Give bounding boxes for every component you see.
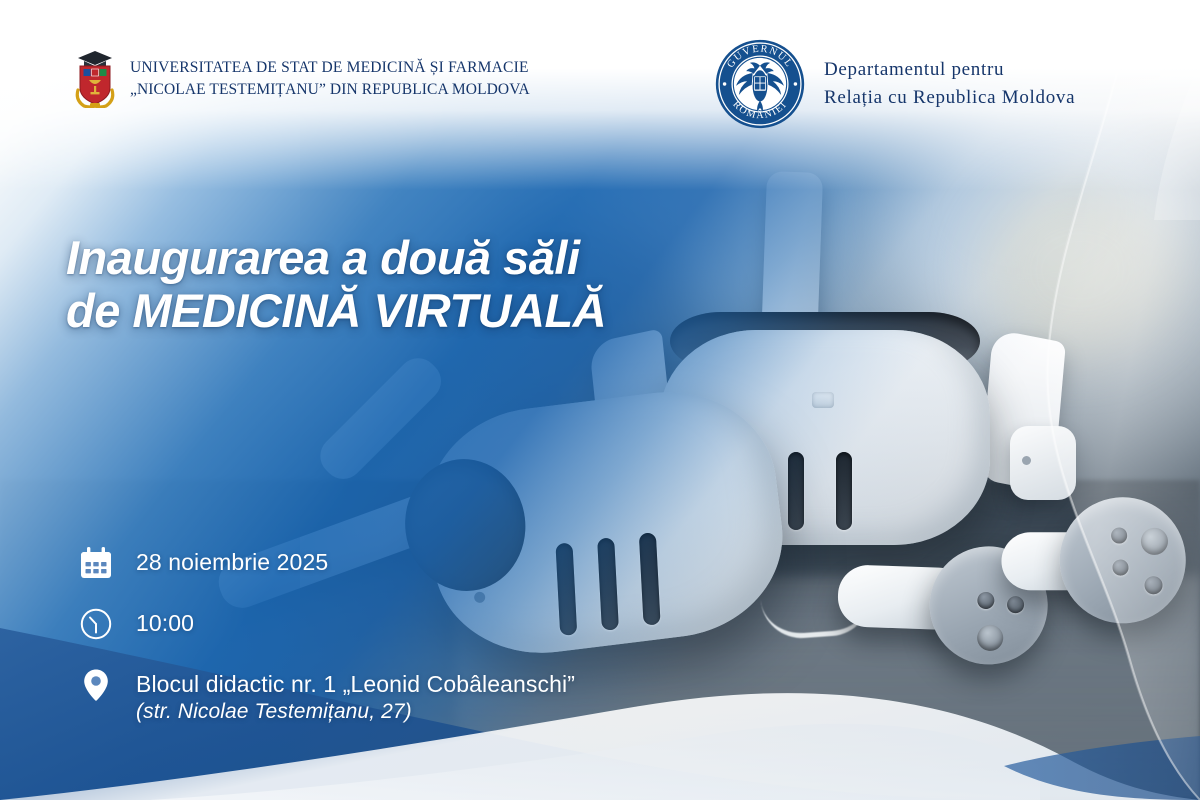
government-name-line1: Departamentul pentru	[824, 56, 1075, 85]
detail-date: 28 noiembrie 2025	[136, 545, 328, 576]
detail-row-time: 10:00	[78, 606, 638, 642]
title-line-1: Inaugurarea a două săli	[66, 231, 580, 284]
poster-title: Inaugurarea a două săli de MEDICINĂ VIRT…	[66, 232, 706, 337]
romanian-government-seal-icon: GUVERNUL ROMÂNIEI	[714, 38, 806, 130]
government-logo-block: GUVERNUL ROMÂNIEI Departamentul pentru R…	[714, 38, 1075, 130]
detail-location-address: (str. Nicolae Testemițanu, 27)	[136, 699, 575, 725]
event-poster: UNIVERSITATEA DE STAT DE MEDICINĂ ȘI FAR…	[0, 0, 1200, 800]
umf-crest-icon	[72, 50, 118, 108]
title-line-2: de MEDICINĂ VIRTUALĂ	[66, 285, 706, 338]
clock-icon	[78, 606, 114, 642]
poster-header: UNIVERSITATEA DE STAT DE MEDICINĂ ȘI FAR…	[0, 0, 1200, 150]
university-logo-block: UNIVERSITATEA DE STAT DE MEDICINĂ ȘI FAR…	[72, 50, 530, 108]
map-pin-icon	[78, 667, 114, 703]
detail-time: 10:00	[136, 606, 194, 637]
detail-row-location: Blocul didactic nr. 1 „Leonid Cobâleansc…	[78, 667, 638, 725]
detail-location-main: Blocul didactic nr. 1 „Leonid Cobâleansc…	[136, 671, 575, 697]
calendar-icon	[78, 545, 114, 581]
university-name: UNIVERSITATEA DE STAT DE MEDICINĂ ȘI FAR…	[130, 57, 530, 101]
government-department-name: Departamentul pentru Relația cu Republic…	[824, 56, 1075, 113]
university-name-line2: „NICOLAE TESTEMIȚANU” DIN REPUBLICA MOLD…	[130, 79, 530, 101]
detail-row-date: 28 noiembrie 2025	[78, 545, 638, 581]
university-name-line1: UNIVERSITATEA DE STAT DE MEDICINĂ ȘI FAR…	[130, 57, 530, 79]
detail-location: Blocul didactic nr. 1 „Leonid Cobâleansc…	[136, 667, 575, 725]
event-details: 28 noiembrie 2025 10:00 Blocul didactic …	[78, 545, 638, 725]
government-name-line2: Relația cu Republica Moldova	[824, 84, 1075, 113]
